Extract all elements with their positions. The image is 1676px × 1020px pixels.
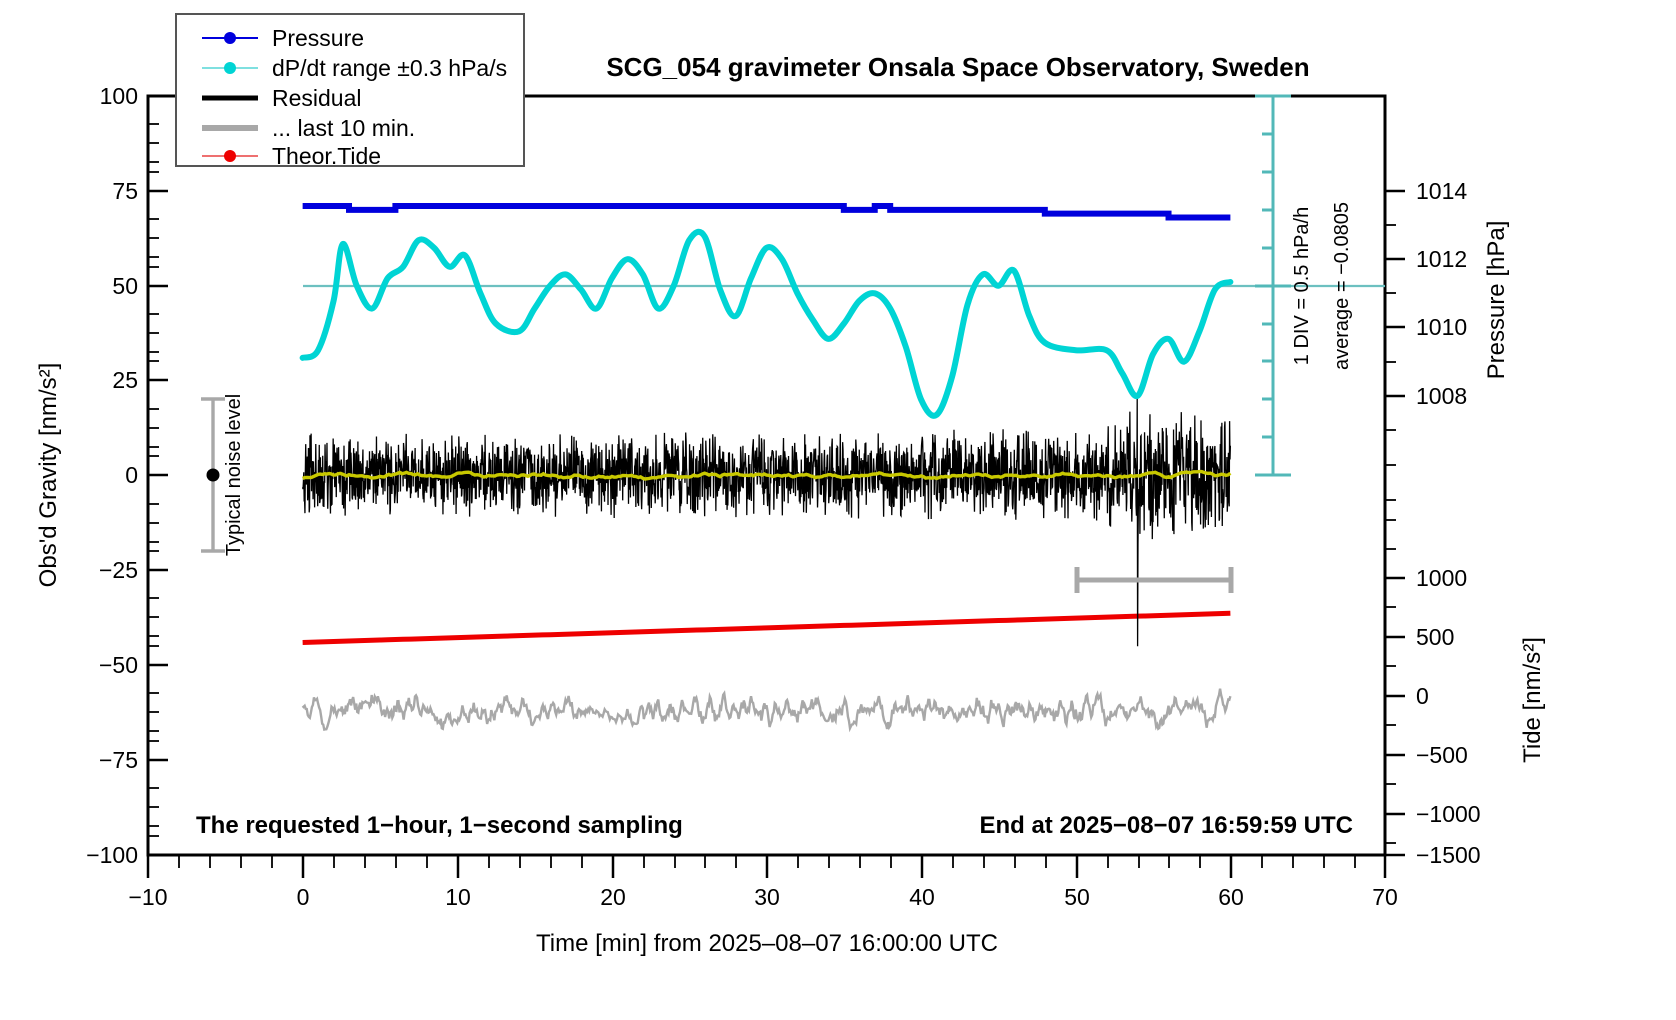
right-pressure-axis-title: Pressure [hPa] [1483, 221, 1510, 380]
bottom-tick-2: 10 [445, 884, 471, 910]
bottom-tick-7: 60 [1218, 884, 1244, 910]
legend-marker-dot-icon [224, 32, 236, 44]
bottom-tick-1: 0 [297, 884, 310, 910]
tide-tick-1: 500 [1416, 624, 1454, 650]
legend-label-0: Pressure [272, 25, 364, 51]
legend-label-2: Residual [272, 85, 362, 111]
left-tick-7: −75 [99, 747, 138, 773]
legend-label-3: ... last 10 min. [272, 115, 415, 141]
legend-label-4: Theor.Tide [272, 143, 381, 169]
left-axis-title: Obs'd Gravity [nm/s²] [35, 363, 62, 588]
legend: Pressure dP/dt range ±0.3 hPa/s Residual… [176, 14, 524, 169]
legend-marker-dot-icon [224, 62, 236, 74]
left-tick-6: −50 [99, 652, 138, 678]
bottom-tick-8: 70 [1372, 884, 1398, 910]
bottom-tick-5: 40 [909, 884, 935, 910]
dpdt-scale-note: 1 DIV = 0.5 hPa/h [1291, 207, 1313, 365]
legend-marker-dot-icon [224, 150, 236, 162]
gravimeter-plot: 100 75 50 25 0 −25 −50 −75 −100 Obs'd Gr… [0, 0, 1676, 1020]
left-tick-1: 75 [112, 178, 138, 204]
page-title: SCG_054 gravimeter Onsala Space Observat… [606, 52, 1309, 82]
bottom-tick-0: −10 [128, 884, 167, 910]
left-tick-0: 100 [100, 83, 138, 109]
pressure-tick-3: 1008 [1416, 383, 1467, 409]
noise-center-dot [207, 469, 220, 482]
bottom-tick-6: 50 [1064, 884, 1090, 910]
tide-tick-3: −500 [1416, 742, 1468, 768]
tide-tick-2: 0 [1416, 683, 1429, 709]
bottom-axis-title: Time [min] from 2025‒08‒07 16:00:00 UTC [536, 930, 998, 957]
footer-left-note: The requested 1−hour, 1−second sampling [196, 812, 683, 839]
left-tick-3: 25 [112, 367, 138, 393]
pressure-tick-2: 1010 [1416, 314, 1467, 340]
right-tide-axis-title: Tide [nm/s²] [1519, 637, 1546, 763]
dpdt-average-note: average = −0.0805 [1331, 202, 1353, 370]
left-tick-8: −100 [86, 842, 138, 868]
left-tick-4: 0 [125, 462, 138, 488]
footer-right-note: End at 2025−08−07 16:59:59 UTC [979, 812, 1353, 839]
bottom-tick-4: 30 [754, 884, 780, 910]
bottom-tick-3: 20 [600, 884, 626, 910]
typical-noise-label: Typical noise level [223, 394, 245, 556]
tide-tick-4: −1000 [1416, 801, 1481, 827]
tide-tick-5: −1500 [1416, 842, 1481, 868]
pressure-tick-1: 1012 [1416, 246, 1467, 272]
left-tick-2: 50 [112, 273, 138, 299]
tide-tick-0: 1000 [1416, 565, 1467, 591]
legend-label-1: dP/dt range ±0.3 hPa/s [272, 55, 507, 81]
plot-root: 100 75 50 25 0 −25 −50 −75 −100 Obs'd Gr… [0, 0, 1676, 1020]
left-tick-5: −25 [99, 557, 138, 583]
pressure-tick-0: 1014 [1416, 178, 1467, 204]
